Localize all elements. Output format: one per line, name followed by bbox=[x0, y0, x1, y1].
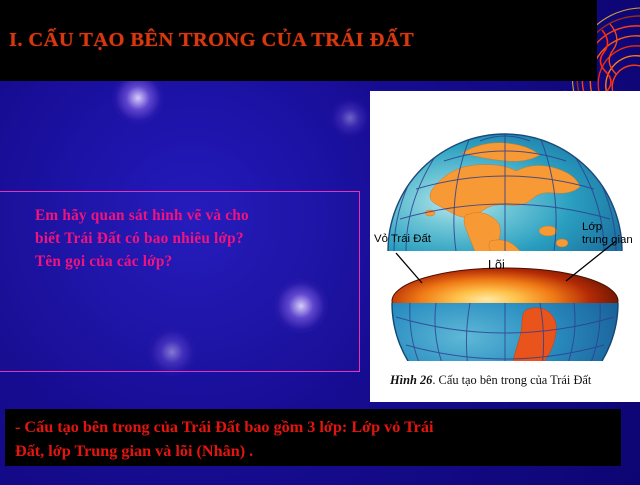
question-text: Em hãy quan sát hình vẽ và cho biết Trái… bbox=[35, 204, 355, 273]
title-bar: I. CẤU TẠO BÊN TRONG CỦA TRÁI ĐẤT bbox=[0, 0, 597, 81]
conclusion-text: - Cấu tạo bên trong của Trái Đất bao gồm… bbox=[15, 415, 615, 463]
label-mantle-line-1: Lớp bbox=[582, 221, 602, 233]
figure-caption-text: . Cấu tạo bên trong của Trái Đất bbox=[432, 373, 591, 387]
earth-upper-hemisphere bbox=[388, 134, 622, 278]
label-mantle-line-2: trung gian bbox=[582, 234, 633, 246]
conclusion-line-2: Đất, lớp Trung gian và lõi (Nhân) . bbox=[15, 439, 615, 463]
question-line-2: biết Trái Đất có bao nhiêu lớp? bbox=[35, 227, 355, 250]
label-crust: Vỏ Trái Đất bbox=[374, 233, 431, 246]
figure-caption: Hình 26. Cấu tạo bên trong của Trái Đất bbox=[390, 373, 640, 388]
earth-lower-hemisphere bbox=[392, 303, 618, 361]
label-mantle: Lớp trung gian bbox=[582, 221, 633, 246]
question-line-1: Em hãy quan sát hình vẽ và cho bbox=[35, 204, 355, 227]
slide-title: I. CẤU TẠO BÊN TRONG CỦA TRÁI ĐẤT bbox=[0, 29, 414, 52]
conclusion-line-1: - Cấu tạo bên trong của Trái Đất bao gồm… bbox=[15, 415, 615, 439]
question-box: Em hãy quan sát hình vẽ và cho biết Trái… bbox=[0, 191, 360, 372]
label-core: Lõi bbox=[488, 259, 505, 272]
figure-panel: Vỏ Trái Đất Lớp trung gian Lõi Hình 26. … bbox=[370, 91, 640, 402]
earth-cutaway-diagram: Vỏ Trái Đất Lớp trung gian Lõi bbox=[370, 91, 640, 361]
question-line-3: Tên gọi của các lớp? bbox=[35, 250, 355, 273]
conclusion-bar: - Cấu tạo bên trong của Trái Đất bao gồm… bbox=[5, 409, 621, 466]
slide-canvas: I. CẤU TẠO BÊN TRONG CỦA TRÁI ĐẤT Em hãy… bbox=[0, 0, 640, 485]
figure-caption-number: Hình 26 bbox=[390, 373, 432, 387]
